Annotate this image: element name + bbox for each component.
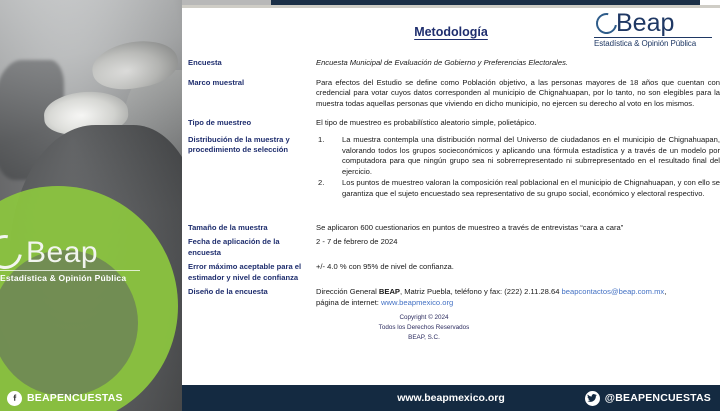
twitter-handle: @BEAPENCUESTAS: [605, 392, 711, 404]
contact-prefix: Dirección General: [316, 287, 379, 296]
row-label-tipo-muestreo: Tipo de muestreo: [188, 118, 316, 129]
distribucion-list: La muestra contempla una distribución no…: [316, 135, 720, 200]
table-row-diseno-encuesta: Diseño de la encuesta Dirección General …: [188, 287, 720, 308]
row-value-marco-muestral: Para efectos del Estudio se define como …: [316, 78, 720, 110]
table-row-error-maximo: Error máximo aceptable para el estimador…: [188, 262, 720, 283]
row-label-tamano-muestra: Tamaño de la muestra: [188, 223, 316, 234]
copyright-line-2: Todos los Derechos Reservados: [188, 323, 660, 333]
row-value-encuesta: Encuesta Municipal de Evaluación de Gobi…: [316, 58, 720, 69]
contact-line2-prefix: página de internet:: [316, 298, 381, 307]
spacer: [188, 201, 720, 223]
beap-logo-overlay: Beap Estadística & Opinión Pública: [0, 238, 140, 283]
left-photo-panel: Beap Estadística & Opinión Pública: [0, 0, 182, 411]
table-row-tamano-muestra: Tamaño de la muestra Se aplicaron 600 cu…: [188, 223, 720, 234]
row-label-error-maximo: Error máximo aceptable para el estimador…: [188, 262, 316, 283]
beap-wordmark: Beap: [26, 236, 98, 269]
row-value-contact: Dirección General BEAP, Matriz Puebla, t…: [316, 287, 720, 308]
row-label-marco-muestral: Marco muestral: [188, 78, 316, 89]
page-title: Metodología: [182, 25, 720, 39]
copyright-block: Copyright © 2024 Todos los Derechos Rese…: [188, 313, 720, 343]
methodology-table: Encuesta Encuesta Municipal de Evaluació…: [188, 58, 720, 343]
copyright-line-3: BEAP, S.C.: [188, 333, 660, 343]
slide-canvas: Beap Estadística & Opinión Pública Beap …: [0, 0, 720, 411]
row-value-error-maximo: +/- 4.0 % con 95% de nivel de confianza.: [316, 262, 720, 273]
row-label-diseno-encuesta: Diseño de la encuesta: [188, 287, 316, 298]
contact-brand: BEAP: [379, 287, 400, 296]
footer-facebook[interactable]: BEAPENCUESTAS: [0, 385, 182, 411]
footer-twitter[interactable]: @BEAPENCUESTAS: [585, 385, 711, 411]
row-value-tipo-muestreo: El tipo de muestreo es probabilístico al…: [316, 118, 720, 129]
facebook-handle: BEAPENCUESTAS: [27, 392, 123, 404]
row-value-tamano-muestra: Se aplicaron 600 cuestionarios en puntos…: [316, 223, 720, 234]
main-content: Beap Estadística & Opinión Pública Metod…: [182, 8, 720, 385]
spacer: [188, 109, 720, 118]
row-label-distribucion: Distribución de la muestra y procedimien…: [188, 135, 316, 156]
table-row-distribucion: Distribución de la muestra y procedimien…: [188, 135, 720, 201]
table-row-fecha: Fecha de aplicación de la encuesta 2 - 7…: [188, 237, 720, 258]
contact-comma: ,: [664, 287, 666, 296]
row-value-fecha: 2 - 7 de febrero de 2024: [316, 237, 720, 248]
spacer: [188, 69, 720, 78]
row-label-encuesta: Encuesta: [188, 58, 316, 69]
copyright-line-1: Copyright © 2024: [188, 313, 660, 323]
contact-website-link[interactable]: www.beapmexico.org: [381, 298, 453, 307]
list-item: La muestra contempla una distribución no…: [316, 135, 720, 177]
table-row-tipo-muestreo: Tipo de muestreo El tipo de muestreo es …: [188, 118, 720, 129]
row-value-distribucion: La muestra contempla una distribución no…: [316, 135, 720, 201]
contact-email-link[interactable]: beapcontactos@beap.com.mx: [562, 287, 665, 296]
footer-bar: www.beapmexico.org @BEAPENCUESTAS: [182, 385, 720, 411]
facebook-icon: [7, 391, 22, 406]
contact-middle: , Matriz Puebla, teléfono y fax: (222) 2…: [400, 287, 562, 296]
list-item: Los puntos de muestreo valoran la compos…: [316, 178, 720, 199]
table-row-marco-muestral: Marco muestral Para efectos del Estudio …: [188, 78, 720, 110]
beap-tagline: Estadística & Opinión Pública: [0, 270, 140, 283]
row-label-fecha: Fecha de aplicación de la encuesta: [188, 237, 316, 258]
table-row-encuesta: Encuesta Encuesta Municipal de Evaluació…: [188, 58, 720, 69]
twitter-icon: [585, 391, 600, 406]
